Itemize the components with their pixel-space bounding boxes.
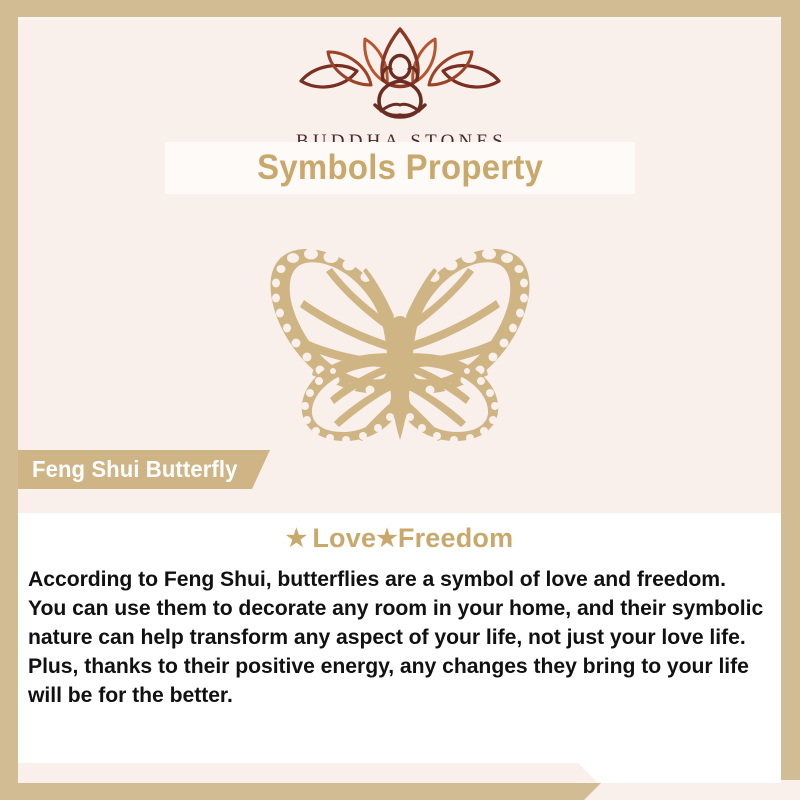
heading-word-love: Love <box>312 523 376 553</box>
description-paragraph: According to Feng Shui, butterflies are … <box>28 565 767 710</box>
love-freedom-heading: ★Love★Freedom <box>18 523 781 554</box>
poster-canvas: BUDDHA STONES Symbols Property <box>0 0 800 800</box>
main-panel: BUDDHA STONES Symbols Property <box>18 17 781 783</box>
star-mid-icon: ★ <box>376 525 398 552</box>
star-left-icon: ★ <box>286 525 308 552</box>
feng-shui-butterfly-tag: Feng Shui Butterfly <box>18 450 270 489</box>
description-card: ★Love★Freedom According to Feng Shui, bu… <box>18 513 781 783</box>
heading-word-freedom: Freedom <box>398 523 513 553</box>
lotus-meditation-icon <box>295 25 505 130</box>
butterfly-icon <box>220 232 580 447</box>
page-title: Symbols Property <box>257 148 543 188</box>
brand-logo: BUDDHA STONES <box>18 25 781 153</box>
title-banner: Symbols Property <box>165 142 635 194</box>
hero-illustration <box>18 232 781 447</box>
tag-label: Feng Shui Butterfly <box>32 456 237 483</box>
panel-top-highlight <box>18 17 781 20</box>
